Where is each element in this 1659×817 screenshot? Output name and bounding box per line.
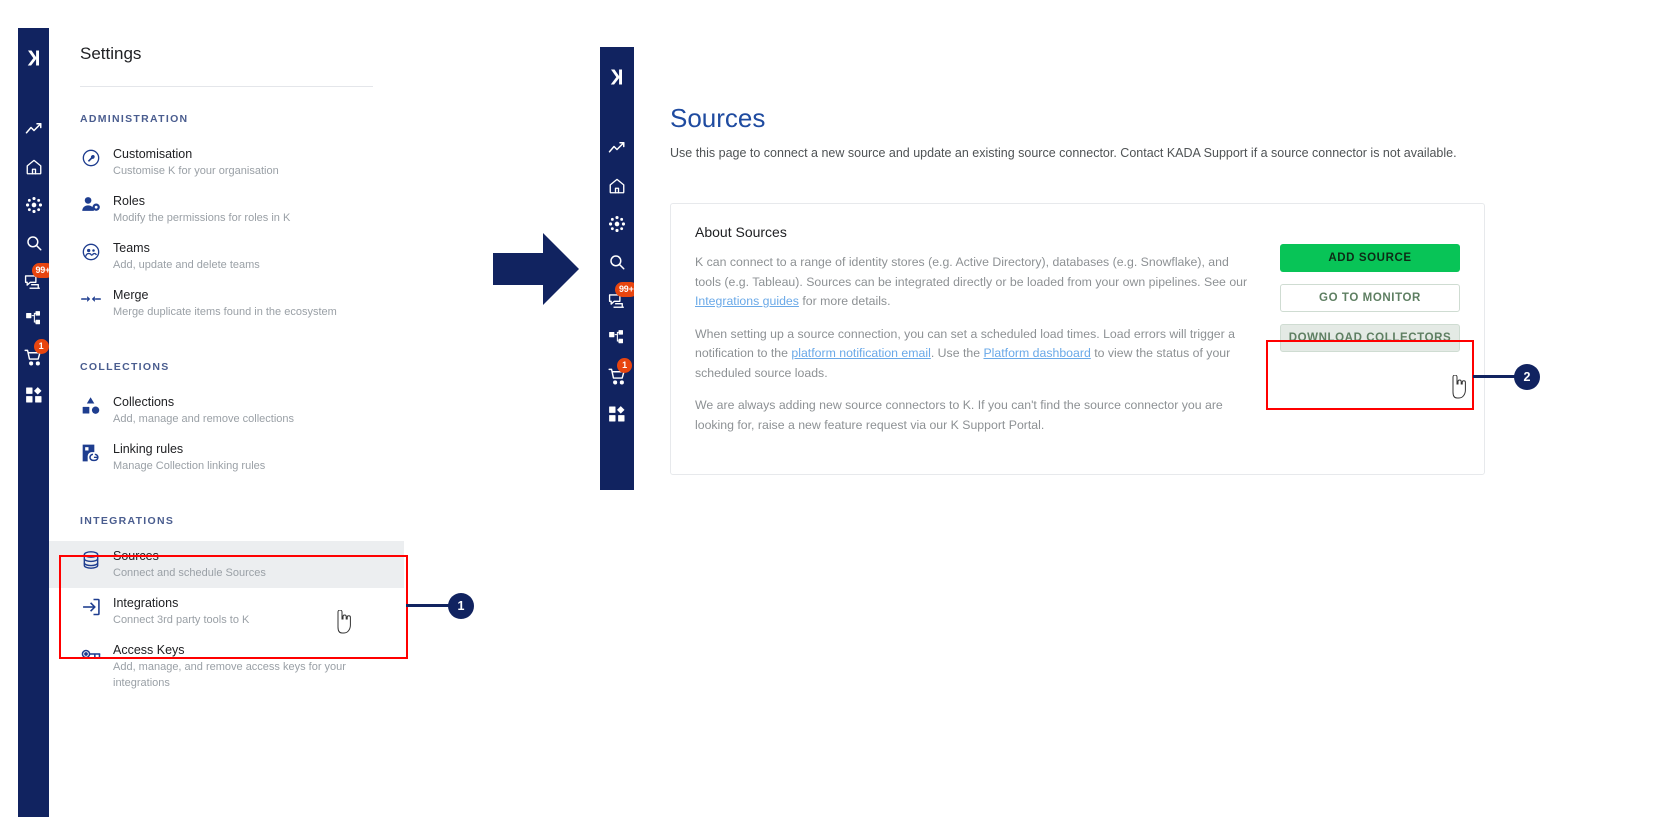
home-icon [608, 177, 626, 195]
sources-page-title: Sources [670, 103, 1659, 134]
sidebar-item-customisation[interactable]: CustomisationCustomise K for your organi… [49, 139, 404, 186]
sidebar-item-subtitle: Customise K for your organisation [113, 163, 279, 179]
rail-item-dashboard-grid[interactable] [600, 395, 634, 433]
rail-item-trending-up[interactable] [18, 110, 49, 148]
rail-item-trending-up[interactable] [600, 129, 634, 167]
database-icon [80, 549, 102, 571]
right-arrow-transition [493, 231, 579, 307]
sidebar-item-collections[interactable]: CollectionsAdd, manage and remove collec… [49, 387, 404, 434]
wrench-circle-icon [80, 147, 102, 169]
link-platform-notification-email[interactable]: platform notification email [791, 346, 930, 360]
page-title: Settings [80, 44, 404, 64]
rail-item-comments[interactable]: 99+ [18, 262, 49, 300]
sidebar-item-sources[interactable]: SourcesConnect and schedule Sources [49, 541, 404, 588]
sidebar-item-access-keys[interactable]: Access KeysAdd, manage, and remove acces… [49, 635, 404, 698]
download-collectors-button-label: DOWNLOAD COLLECTORS [1289, 332, 1452, 344]
left-nav-rail: 99+1 [18, 28, 49, 817]
right-nav-rail: 99+1 [600, 47, 634, 490]
callout-marker-1-label: 1 [458, 599, 465, 613]
card-action-buttons: ADD SOURCEGO TO MONITORDOWNLOAD COLLECTO… [1280, 244, 1460, 352]
callout-marker-2: 2 [1514, 364, 1540, 390]
sidebar-item-subtitle: Add, manage and remove collections [113, 411, 294, 427]
add-source-button[interactable]: ADD SOURCE [1280, 244, 1460, 272]
settings-panel: Settings ADMINISTRATIONCustomisationCust… [49, 28, 404, 817]
network-nodes-icon [608, 215, 626, 233]
search-icon [608, 253, 626, 271]
trending-up-icon [25, 120, 43, 138]
rail-item-search[interactable] [18, 224, 49, 262]
k-logo-icon[interactable] [18, 28, 49, 88]
rail-item-sitemap[interactable] [600, 319, 634, 357]
sidebar-item-title: Linking rules [113, 441, 265, 457]
go-to-monitor-button[interactable]: GO TO MONITOR [1280, 284, 1460, 312]
home-icon [25, 158, 43, 176]
add-source-button-label: ADD SOURCE [1328, 252, 1411, 264]
screenshot-root: 99+1 Settings ADMINISTRATIONCustomisatio… [0, 0, 1659, 817]
merge-arrows-icon [80, 288, 102, 310]
sidebar-item-teams[interactable]: TeamsAdd, update and delete teams [49, 233, 404, 280]
sidebar-item-subtitle: Connect 3rd party tools to K [113, 612, 249, 628]
rail-item-network-nodes[interactable] [600, 205, 634, 243]
sidebar-item-subtitle: Manage Collection linking rules [113, 458, 265, 474]
callout-marker-2-label: 2 [1524, 370, 1531, 384]
rail-item-home[interactable] [600, 167, 634, 205]
mouse-cursor-download [1448, 375, 1468, 399]
rail-item-shopping-cart[interactable]: 1 [18, 338, 49, 376]
link-rules-icon [80, 442, 102, 464]
sidebar-item-subtitle: Add, manage, and remove access keys for … [113, 659, 394, 691]
about-sources-heading: About Sources [695, 224, 1460, 240]
sidebar-item-title: Customisation [113, 146, 279, 162]
dashboard-grid-icon [25, 386, 43, 404]
shapes-icon [80, 395, 102, 417]
sidebar-item-title: Teams [113, 240, 260, 256]
sources-page-description: Use this page to connect a new source an… [670, 144, 1460, 163]
sidebar-item-title: Roles [113, 193, 290, 209]
rail-item-search[interactable] [600, 243, 634, 281]
rail-item-network-nodes[interactable] [18, 186, 49, 224]
sidebar-item-merge[interactable]: MergeMerge duplicate items found in the … [49, 280, 404, 327]
about-paragraph-2: When setting up a source connection, you… [695, 325, 1255, 384]
key-icon [80, 643, 102, 665]
about-paragraph-1: K can connect to a range of identity sto… [695, 253, 1255, 312]
about-sources-card: About Sources K can connect to a range o… [670, 203, 1485, 475]
rail-item-dashboard-grid[interactable] [18, 376, 49, 414]
rail-item-comments[interactable]: 99+ [600, 281, 634, 319]
callout-marker-1: 1 [448, 593, 474, 619]
leader-line-2 [1473, 375, 1516, 378]
sidebar-item-subtitle: Modify the permissions for roles in K [113, 210, 290, 226]
notification-badge: 1 [617, 358, 632, 373]
dashboard-grid-icon [608, 405, 626, 423]
title-divider [80, 86, 373, 87]
about-paragraph-3: We are always adding new source connecto… [695, 396, 1255, 435]
rail-item-sitemap[interactable] [18, 300, 49, 338]
mouse-cursor-sources [333, 610, 353, 634]
sidebar-item-title: Access Keys [113, 642, 394, 658]
sidebar-item-title: Sources [113, 548, 266, 564]
k-logo-icon[interactable] [600, 47, 634, 107]
sidebar-item-subtitle: Connect and schedule Sources [113, 565, 266, 581]
trending-up-icon [608, 139, 626, 157]
notification-badge: 1 [34, 339, 49, 354]
sidebar-item-title: Merge [113, 287, 337, 303]
sidebar-item-subtitle: Merge duplicate items found in the ecosy… [113, 304, 337, 320]
search-icon [25, 234, 43, 252]
section-label-collections: COLLECTIONS [80, 361, 404, 373]
sidebar-item-subtitle: Add, update and delete teams [113, 257, 260, 273]
rail-item-shopping-cart[interactable]: 1 [600, 357, 634, 395]
section-label-administration: ADMINISTRATION [80, 113, 404, 125]
network-nodes-icon [25, 196, 43, 214]
rail-item-home[interactable] [18, 148, 49, 186]
section-label-integrations: INTEGRATIONS [80, 515, 404, 527]
sitemap-icon [608, 329, 626, 347]
sitemap-icon [25, 310, 43, 328]
sidebar-item-title: Collections [113, 394, 294, 410]
arrow-in-box-icon [80, 596, 102, 618]
person-gear-icon [80, 194, 102, 216]
link-platform-dashboard[interactable]: Platform dashboard [983, 346, 1090, 360]
teams-circle-icon [80, 241, 102, 263]
sidebar-item-title: Integrations [113, 595, 249, 611]
sidebar-item-linking-rules[interactable]: Linking rulesManage Collection linking r… [49, 434, 404, 481]
download-collectors-button[interactable]: DOWNLOAD COLLECTORS [1280, 324, 1460, 352]
link-integrations-guides[interactable]: Integrations guides [695, 294, 799, 308]
sidebar-item-roles[interactable]: RolesModify the permissions for roles in… [49, 186, 404, 233]
go-to-monitor-button-label: GO TO MONITOR [1319, 292, 1421, 304]
